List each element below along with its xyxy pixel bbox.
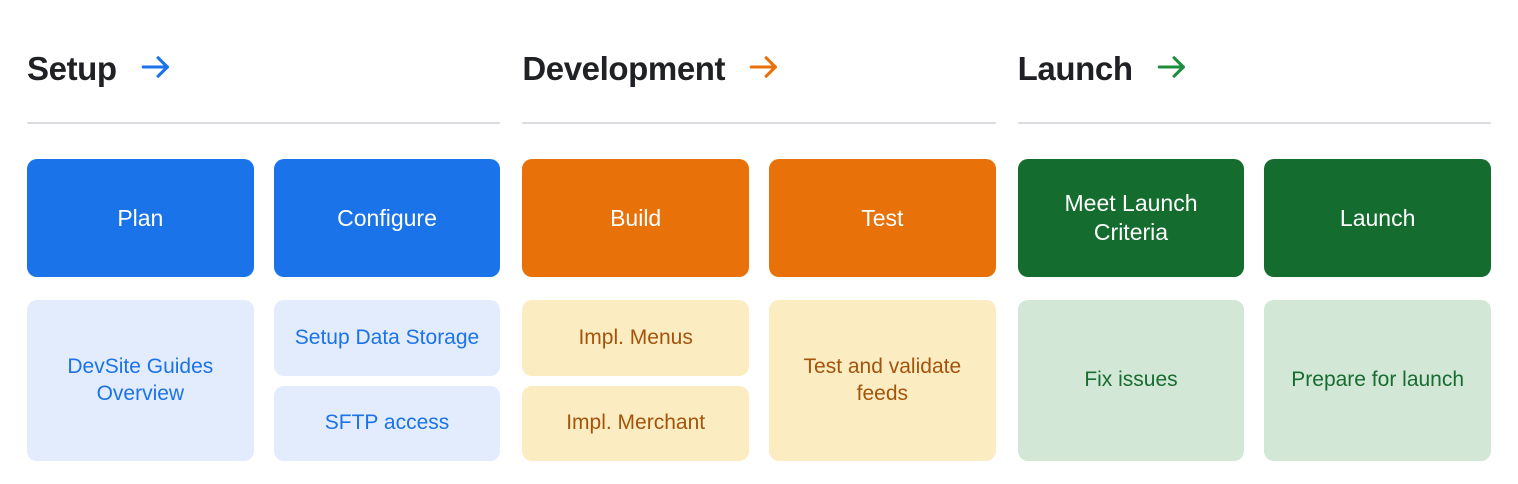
subcard-setup-data-storage[interactable]: Setup Data Storage	[274, 300, 501, 376]
subcard-fix-issues[interactable]: Fix issues	[1018, 300, 1245, 461]
sub-cards-development: Impl. Menus Impl. Merchant Test and vali…	[522, 300, 995, 461]
subcard-devsite-guides-overview[interactable]: DevSite Guides Overview	[27, 300, 254, 461]
sub-column-launch: Prepare for launch	[1264, 300, 1491, 461]
subcard-prepare-for-launch[interactable]: Prepare for launch	[1264, 300, 1491, 461]
arrow-right-icon	[1155, 50, 1189, 89]
stage-divider-setup	[27, 122, 500, 124]
subcard-impl-merchant[interactable]: Impl. Merchant	[522, 386, 749, 462]
stage-divider-launch	[1018, 122, 1491, 124]
stage-title-launch: Launch	[1018, 50, 1133, 88]
sub-column-build: Impl. Menus Impl. Merchant	[522, 300, 749, 461]
lifecycle-diagram: Setup Plan Configure DevSite Guides Over…	[0, 0, 1518, 484]
sub-column-test: Test and validate feeds	[769, 300, 996, 461]
main-cards-development: Build Test	[522, 159, 995, 277]
subcard-test-and-validate-feeds[interactable]: Test and validate feeds	[769, 300, 996, 461]
sub-column-configure: Setup Data Storage SFTP access	[274, 300, 501, 461]
sub-cards-setup: DevSite Guides Overview Setup Data Stora…	[27, 300, 500, 461]
stage-header-setup: Setup	[27, 0, 500, 122]
stage-divider-development	[522, 122, 995, 124]
card-plan[interactable]: Plan	[27, 159, 254, 277]
card-meet-launch-criteria[interactable]: Meet Launch Criteria	[1018, 159, 1245, 277]
card-build[interactable]: Build	[522, 159, 749, 277]
stage-header-development: Development	[522, 0, 995, 122]
arrow-right-icon	[139, 50, 173, 89]
stage-development: Development Build Test Impl. Menus Impl.…	[522, 0, 995, 484]
main-cards-setup: Plan Configure	[27, 159, 500, 277]
sub-column-meet-launch-criteria: Fix issues	[1018, 300, 1245, 461]
stage-title-setup: Setup	[27, 50, 117, 88]
stage-header-launch: Launch	[1018, 0, 1491, 122]
card-launch[interactable]: Launch	[1264, 159, 1491, 277]
card-test[interactable]: Test	[769, 159, 996, 277]
stage-launch: Launch Meet Launch Criteria Launch Fix i…	[1018, 0, 1491, 484]
sub-cards-launch: Fix issues Prepare for launch	[1018, 300, 1491, 461]
card-configure[interactable]: Configure	[274, 159, 501, 277]
stage-setup: Setup Plan Configure DevSite Guides Over…	[27, 0, 500, 484]
subcard-impl-menus[interactable]: Impl. Menus	[522, 300, 749, 376]
sub-column-plan: DevSite Guides Overview	[27, 300, 254, 461]
subcard-sftp-access[interactable]: SFTP access	[274, 386, 501, 462]
main-cards-launch: Meet Launch Criteria Launch	[1018, 159, 1491, 277]
stage-title-development: Development	[522, 50, 725, 88]
arrow-right-icon	[747, 50, 781, 89]
